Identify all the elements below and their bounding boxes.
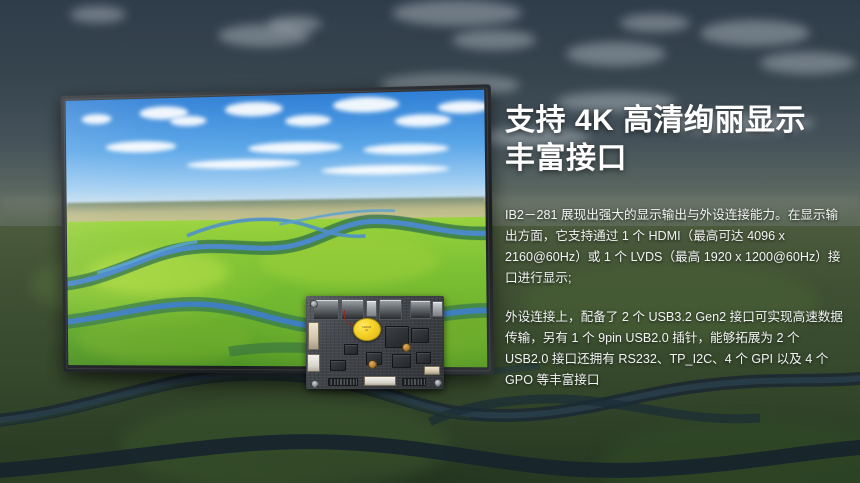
usb-pin-header xyxy=(402,378,426,386)
battery-label: CR2032 3V xyxy=(362,326,371,332)
motherboard: CR2032 3V xyxy=(306,296,444,389)
front-panel-connector xyxy=(364,376,396,386)
edge-connector xyxy=(307,354,320,372)
background-cloud xyxy=(392,0,522,26)
mounting-hole xyxy=(310,300,318,308)
background-cloud xyxy=(760,52,856,74)
ic-chip xyxy=(344,344,358,355)
power-port xyxy=(432,301,443,317)
audio-port xyxy=(410,300,431,319)
memory-chip xyxy=(411,328,429,343)
description-paragraph-io: 外设连接上，配备了 2 个 USB3.2 Gen2 接口可实现高速数据传输，另有… xyxy=(505,307,845,391)
background-cloud xyxy=(566,42,666,66)
display-port xyxy=(379,299,402,320)
gpio-pin-header xyxy=(328,378,358,386)
ic-chip xyxy=(416,352,431,364)
background-cloud xyxy=(452,30,536,50)
background-cloud xyxy=(620,14,690,32)
background-cloud xyxy=(700,20,810,46)
ic-chip xyxy=(330,360,346,371)
product-feature-slide: CR2032 3V 支持 4K xyxy=(0,0,860,483)
background-cloud xyxy=(268,16,322,32)
mounting-hole xyxy=(311,380,319,388)
description-paragraph-display: IB2－281 展现出强大的显示输出与外设连接能力。在显示输出方面，它支持通过 … xyxy=(505,205,845,289)
mounting-hole xyxy=(434,379,442,387)
background-cloud xyxy=(70,6,126,23)
brass-standoff xyxy=(402,343,411,352)
coin-cell-battery: CR2032 3V xyxy=(353,318,381,341)
brass-standoff xyxy=(368,360,377,369)
copy-block: 支持 4K 高清绚丽显示丰富接口 IB2－281 展现出强大的显示输出与外设连接… xyxy=(505,102,845,391)
lvds-connector xyxy=(308,322,319,350)
page-title: 支持 4K 高清绚丽显示丰富接口 xyxy=(505,102,845,178)
fan-connector xyxy=(424,366,440,375)
motherboard-pcb: CR2032 3V xyxy=(306,296,444,389)
ic-chip xyxy=(392,354,411,368)
hdmi-port xyxy=(366,300,377,317)
